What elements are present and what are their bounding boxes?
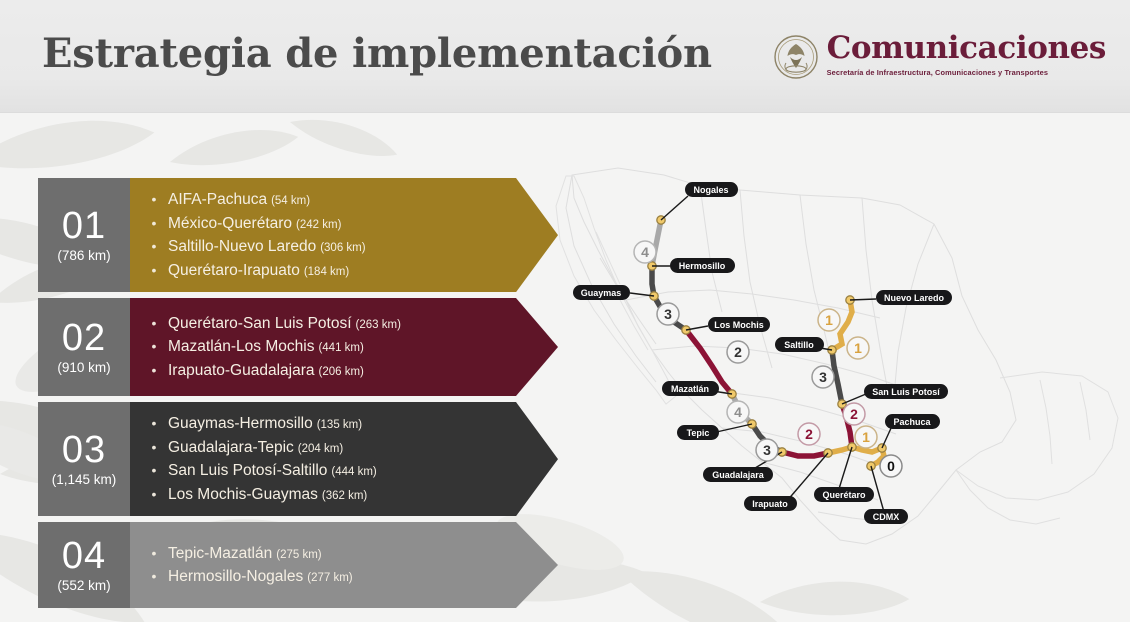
stage-badge-2-bajio: 2 [798,423,820,445]
implementation-stage-list: 01 (786 km) •AIFA-Pachuca(54 km) •México… [38,178,558,614]
stage-badge-label: 4 [734,404,742,420]
stage-badge-label: 4 [641,244,649,260]
segment-list-04: •Tepic-Mazatlán(275 km) •Hermosillo-Noga… [130,542,558,589]
segment-name: Querétaro-San Luis Potosí [168,315,352,332]
stage-number-03: 03 [62,431,106,469]
bullet-icon: • [150,216,158,230]
stage-band-03[interactable]: 03 (1,145 km) •Guaymas-Hermosillo(135 km… [38,402,558,516]
stage-number-01: 01 [62,207,106,245]
segment-km: (54 km) [271,195,310,207]
segment-km: (135 km) [317,419,362,431]
segment-km: (184 km) [304,266,349,278]
city-label-mazatlan: Mazatlán [662,381,719,396]
stage-badge-3-north: 3 [657,303,679,325]
city-label-text: Mazatlán [671,384,709,394]
segment-item: •Mazatlán-Los Mochis(441 km) [150,335,558,359]
stage-badge-label: 2 [734,344,742,360]
segment-km: (277 km) [307,572,352,584]
stage-band-01[interactable]: 01 (786 km) •AIFA-Pachuca(54 km) •México… [38,178,558,292]
stage-total-km-01: (786 km) [57,248,110,263]
segment-item: •Tepic-Mazatlán(275 km) [150,542,558,566]
segment-name: Irapuato-Guadalajara [168,362,315,379]
bullet-icon: • [150,363,158,377]
stage-number-box-01: 01 (786 km) [38,178,130,292]
city-label-san-luis-potosi: San Luis Potosí [864,384,948,399]
segment-km: (204 km) [298,443,343,455]
bullet-icon: • [150,416,158,430]
stage-badge-4-north: 4 [634,241,656,263]
segment-km: (263 km) [356,319,401,331]
segment-name: Guadalajara-Tepic [168,439,294,456]
stage-badge-1-pachuca: 1 [855,426,877,448]
stage-body-04: •Tepic-Mazatlán(275 km) •Hermosillo-Noga… [130,522,558,608]
segment-item: •Querétaro-San Luis Potosí(263 km) [150,312,558,336]
segment-item: •San Luis Potosí-Saltillo(444 km) [150,459,558,483]
segment-name: Tepic-Mazatlán [168,545,272,562]
segment-item: •Los Mochis-Guaymas(362 km) [150,483,558,507]
stage-number-box-04: 04 (552 km) [38,522,130,608]
slide-canvas: Estrategia de implementación Comunicacio… [0,0,1130,622]
stage-badge-label: 2 [850,406,858,422]
stage-badge-label: 3 [763,442,771,458]
segment-item: •Guaymas-Hermosillo(135 km) [150,412,558,436]
city-label-nuevo-laredo: Nuevo Laredo [876,290,952,305]
stage-badge-1-saltillo: 1 [847,337,869,359]
stage-badge-0-cdmx: 0 [880,455,902,477]
segment-name: Hermosillo-Nogales [168,568,303,585]
city-label-text: San Luis Potosí [872,387,940,397]
segment-item: •Saltillo-Nuevo Laredo(306 km) [150,235,558,259]
stage-badge-label: 1 [862,429,870,445]
stage-badge-label: 1 [825,312,833,328]
stage-total-km-02: (910 km) [57,360,110,375]
city-label-text: CDMX [873,512,900,522]
bullet-icon: • [150,569,158,583]
stage-total-km-03: (1,145 km) [52,472,117,487]
stage-band-02[interactable]: 02 (910 km) •Querétaro-San Luis Potosí(2… [38,298,558,396]
city-label-irapuato: Irapuato [744,496,797,511]
city-label-text: Hermosillo [679,261,726,271]
segment-name: Los Mochis-Guaymas [168,486,318,503]
city-label-cdmx: CDMX [864,509,908,524]
brand-lockup: Comunicaciones Secretaría de Infraestruc… [774,33,1106,79]
city-label-los-mochis: Los Mochis [708,317,770,332]
mexico-outline [566,168,1016,544]
bullet-icon: • [150,440,158,454]
stage-band-04[interactable]: 04 (552 km) •Tepic-Mazatlán(275 km) •Her… [38,522,558,608]
city-label-pachuca: Pachuca [885,414,940,429]
page-title: Estrategia de implementación [42,30,712,77]
brand-subtitle: Secretaría de Infraestructura, Comunicac… [827,68,1106,77]
bullet-icon: • [150,263,158,277]
segment-name: Mazatlán-Los Mochis [168,338,314,355]
segment-list-01: •AIFA-Pachuca(54 km) •México-Querétaro(2… [130,188,558,282]
segment-km: (306 km) [320,242,365,254]
city-label-queretaro: Querétaro [814,487,874,502]
city-label-tepic: Tepic [677,425,719,440]
segment-list-02: •Querétaro-San Luis Potosí(263 km) •Maza… [130,312,558,383]
city-label-text: Tepic [687,428,710,438]
stage-badge-2-slp: 2 [843,403,865,425]
segment-km: (242 km) [296,219,341,231]
segment-item: •Guadalajara-Tepic(204 km) [150,436,558,460]
stage-badge-group: 4 3 2 1 1 [634,241,902,477]
city-label-text: Nogales [693,185,728,195]
stage-body-02: •Querétaro-San Luis Potosí(263 km) •Maza… [130,298,558,396]
city-label-text: Irapuato [752,499,788,509]
mexico-rail-corridor-map: Nogales Hermosillo Guaymas Los Mochis Nu… [548,140,1130,592]
stage-badge-3-center: 3 [812,366,834,388]
city-label-text: Pachuca [893,417,931,427]
bullet-icon: • [150,463,158,477]
segment-km: (362 km) [322,490,367,502]
segment-km: (275 km) [276,549,321,561]
city-label-text: Saltillo [784,340,814,350]
bullet-icon: • [150,192,158,206]
city-label-guaymas: Guaymas [573,285,630,300]
stage-number-04: 04 [62,537,106,575]
stage-badge-1-laredo: 1 [818,309,840,331]
stage-number-box-03: 03 (1,145 km) [38,402,130,516]
stage-number-02: 02 [62,319,106,357]
stage-badge-4-tepic: 4 [727,401,749,423]
segment-km: (441 km) [318,342,363,354]
stage-body-03: •Guaymas-Hermosillo(135 km) •Guadalajara… [130,402,558,516]
segment-name: Guaymas-Hermosillo [168,415,313,432]
stage-badge-3-gdl: 3 [756,439,778,461]
bullet-icon: • [150,487,158,501]
city-label-text: Querétaro [822,490,866,500]
route-irapuato-guadalajara-stage2 [782,452,828,456]
bullet-icon: • [150,316,158,330]
segment-list-03: •Guaymas-Hermosillo(135 km) •Guadalajara… [130,412,558,506]
slide-header: Estrategia de implementación Comunicacio… [0,0,1130,113]
segment-km: (206 km) [319,366,364,378]
segment-item: •AIFA-Pachuca(54 km) [150,188,558,212]
city-label-text: Guadalajara [712,470,765,480]
segment-item: •Hermosillo-Nogales(277 km) [150,565,558,589]
stage-badge-label: 1 [854,340,862,356]
city-label-saltillo: Saltillo [775,337,824,352]
bullet-icon: • [150,339,158,353]
stage-number-box-02: 02 (910 km) [38,298,130,396]
bullet-icon: • [150,239,158,253]
segment-name: AIFA-Pachuca [168,191,267,208]
stage-badge-label: 3 [819,369,827,385]
city-label-text: Guaymas [581,288,622,298]
stage-badge-label: 2 [805,426,813,442]
stage-badge-label: 0 [887,458,895,474]
segment-name: Saltillo-Nuevo Laredo [168,238,316,255]
city-label-text: Los Mochis [714,320,764,330]
segment-item: •Irapuato-Guadalajara(206 km) [150,359,558,383]
segment-item: •Querétaro-Irapuato(184 km) [150,259,558,283]
city-label-text: Nuevo Laredo [884,293,945,303]
segment-name: San Luis Potosí-Saltillo [168,462,327,479]
segment-km: (444 km) [331,466,376,478]
brand-name: Comunicaciones [827,33,1106,64]
yucatan-outline [956,372,1118,524]
segment-name: México-Querétaro [168,215,292,232]
segment-name: Querétaro-Irapuato [168,262,300,279]
stage-badge-label: 3 [664,306,672,322]
city-label-hermosillo: Hermosillo [670,258,735,273]
stage-badge-2-west: 2 [727,341,749,363]
bullet-icon: • [150,546,158,560]
mexican-eagle-seal-icon [774,35,818,79]
city-label-nogales: Nogales [685,182,738,197]
stage-total-km-04: (552 km) [57,578,110,593]
city-label-guadalajara: Guadalajara [703,467,773,482]
stage-body-01: •AIFA-Pachuca(54 km) •México-Querétaro(2… [130,178,558,292]
segment-item: •México-Querétaro(242 km) [150,212,558,236]
